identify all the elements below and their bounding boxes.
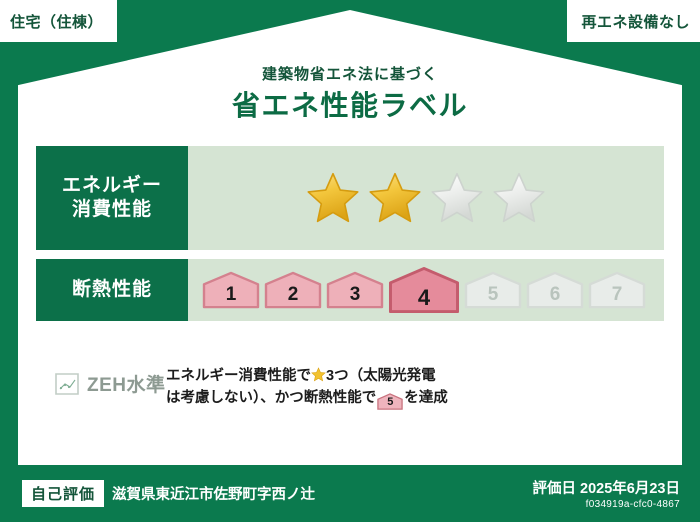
- insulation-grade-badge-4: 4: [388, 266, 460, 314]
- zeh-desc-part2: は考慮しない）、かつ断熱性能で: [166, 390, 376, 406]
- insulation-grade-value: 7: [612, 284, 623, 306]
- insulation-grade-badge-5: 5: [464, 271, 522, 309]
- insulation-grade-badge-6: 6: [526, 271, 584, 309]
- energy-performance-label: 住宅（住棟） 再エネ設備なし 建築物省エネ法に基づく 省エネ性能ラベル エネルギ…: [0, 0, 700, 522]
- insulation-grade-value: 6: [550, 284, 561, 306]
- footer-right-block: 評価日 2025年6月23日 f034919a-cfc0-4867: [533, 477, 680, 510]
- star-filled-icon: [305, 170, 361, 226]
- title-subtitle: 建築物省エネ法に基づく: [0, 63, 700, 84]
- insulation-grade-value: 2: [288, 284, 299, 306]
- zeh-description: エネルギー消費性能で 3つ（太陽光発電 は考慮しない）、かつ断熱性能で 5 を達…: [166, 362, 664, 410]
- inline-star-icon: [311, 367, 326, 382]
- star-rating-panel: [188, 146, 664, 250]
- zeh-label: ZEH水準: [87, 370, 166, 397]
- zeh-standard-row: ZEH水準 エネルギー消費性能で 3つ（太陽光発電 は考慮しない）、かつ断熱性能…: [36, 362, 664, 410]
- zeh-mark: ZEH水準: [36, 362, 166, 397]
- star-empty-icon: [491, 170, 547, 226]
- insulation-grade-badge-2: 2: [264, 271, 322, 309]
- insulation-performance-label-box: 断熱性能: [36, 259, 188, 321]
- building-type-tag-label: 住宅（住棟）: [10, 11, 103, 32]
- insulation-grade-badge-1: 1: [202, 271, 260, 309]
- property-address: 滋賀県東近江市佐野町字西ノ辻: [112, 483, 315, 504]
- insulation-label-line1: 断熱性能: [72, 278, 152, 302]
- zeh-desc-star-count: 3つ（太陽光発電: [326, 368, 436, 384]
- document-id: f034919a-cfc0-4867: [533, 499, 680, 510]
- building-type-tag: 住宅（住棟）: [0, 0, 117, 42]
- evaluation-date: 評価日 2025年6月23日: [533, 477, 680, 498]
- self-evaluation-badge: 自己評価: [22, 480, 104, 507]
- insulation-grade-badge-3: 3: [326, 271, 384, 309]
- zeh-desc-part1: エネルギー消費性能で: [166, 368, 311, 384]
- renewable-energy-tag-label: 再エネ設備なし: [581, 11, 690, 32]
- energy-performance-label-box: エネルギー 消費性能: [36, 146, 188, 250]
- insulation-grade-panel: 1234567: [188, 259, 664, 321]
- zeh-desc-part3: を達成: [404, 390, 448, 406]
- zeh-house-icon: [54, 371, 80, 397]
- insulation-grade-value: 5: [488, 284, 499, 306]
- insulation-grade-value: 4: [418, 285, 430, 311]
- footer-bar: 自己評価 滋賀県東近江市佐野町字西ノ辻 評価日 2025年6月23日 f0349…: [0, 465, 700, 522]
- energy-label-line1: エネルギー: [62, 174, 162, 198]
- star-empty-icon: [429, 170, 485, 226]
- page-title: 省エネ性能ラベル: [0, 84, 700, 124]
- inline-grade-value: 5: [377, 393, 403, 412]
- insulation-grade-badge-7: 7: [588, 271, 646, 309]
- insulation-grade-value: 3: [350, 284, 361, 306]
- insulation-grade-value: 1: [226, 284, 237, 306]
- insulation-performance-row: 断熱性能 1234567: [36, 259, 664, 321]
- star-filled-icon: [367, 170, 423, 226]
- energy-label-line2: 消費性能: [72, 198, 152, 222]
- renewable-energy-tag: 再エネ設備なし: [567, 0, 700, 42]
- energy-performance-row: エネルギー 消費性能: [36, 146, 664, 250]
- inline-grade-badge: 5: [377, 393, 403, 410]
